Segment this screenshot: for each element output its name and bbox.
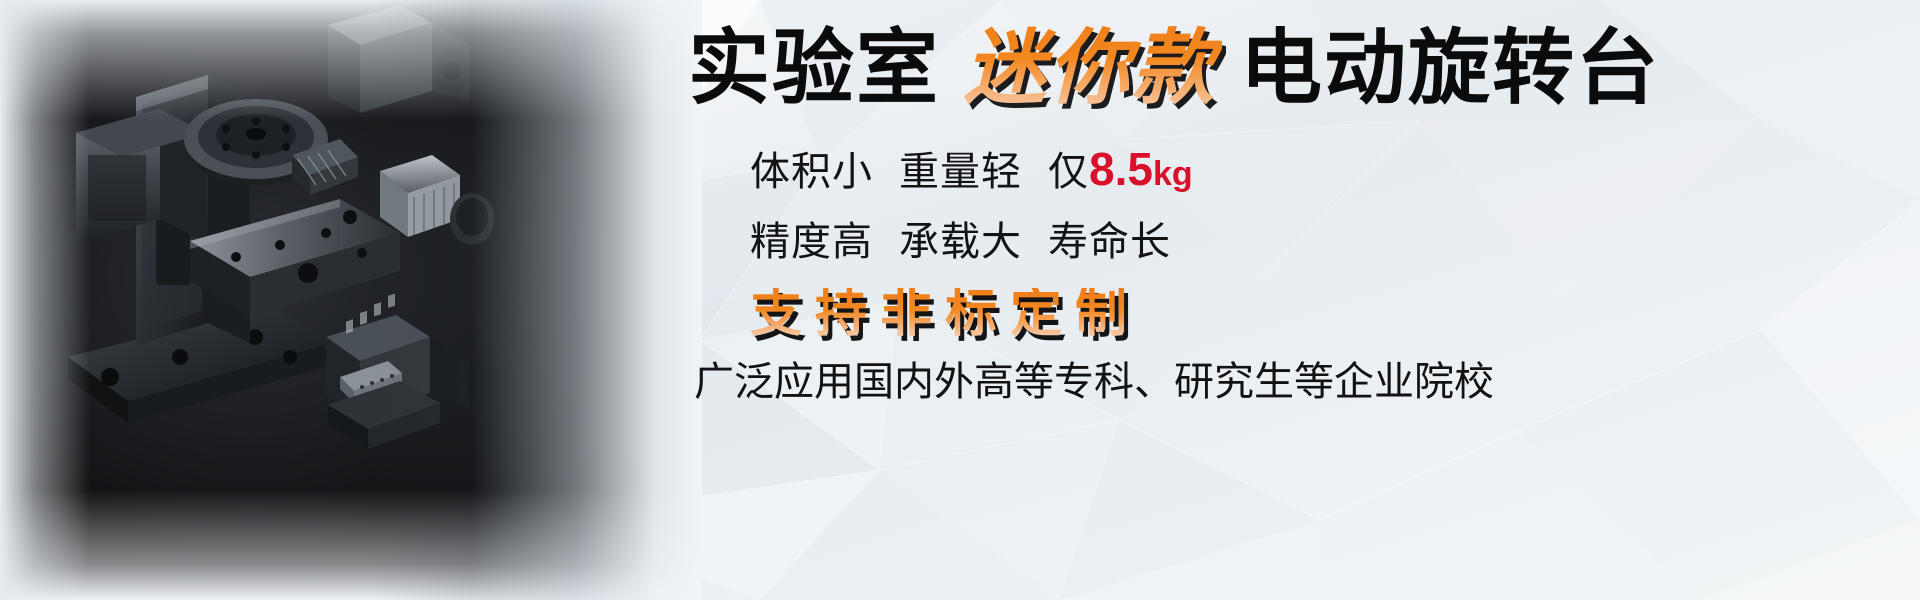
feature-compact: 体积小 xyxy=(750,150,873,194)
headline-part2: 电动旋转台 xyxy=(1240,23,1660,114)
feature-line-performance: 精度高承载大寿命长 xyxy=(750,222,1171,262)
feature-line-weight: 体积小重量轻仅8.5kg xyxy=(750,146,1193,192)
headline: 实验室迷你款电动旋转台 xyxy=(688,28,1660,110)
application-note: 广泛应用国内外高等专科、研究生等企业院校 xyxy=(694,362,1494,402)
weight-value: 8.5 xyxy=(1089,143,1153,195)
photo-left-fade xyxy=(0,0,90,600)
headline-highlight: 迷你款 xyxy=(958,23,1222,114)
product-banner: 实验室迷你款电动旋转台 体积小重量轻仅8.5kg 精度高承载大寿命长 支持非标定… xyxy=(0,0,1920,600)
weight-prefix: 仅 xyxy=(1048,150,1089,194)
photo-right-fade xyxy=(372,0,702,600)
copy-block: 实验室迷你款电动旋转台 体积小重量轻仅8.5kg 精度高承载大寿命长 支持非标定… xyxy=(688,0,1868,600)
weight-unit: kg xyxy=(1153,155,1193,193)
feature-lifespan: 寿命长 xyxy=(1048,220,1171,264)
custom-order-headline: 支持非标定制 xyxy=(750,288,1140,340)
product-photo xyxy=(0,0,700,600)
feature-lightweight: 重量轻 xyxy=(899,150,1022,194)
headline-part1: 实验室 xyxy=(688,23,940,114)
feature-load: 承载大 xyxy=(899,220,1022,264)
feature-precision: 精度高 xyxy=(750,220,873,264)
